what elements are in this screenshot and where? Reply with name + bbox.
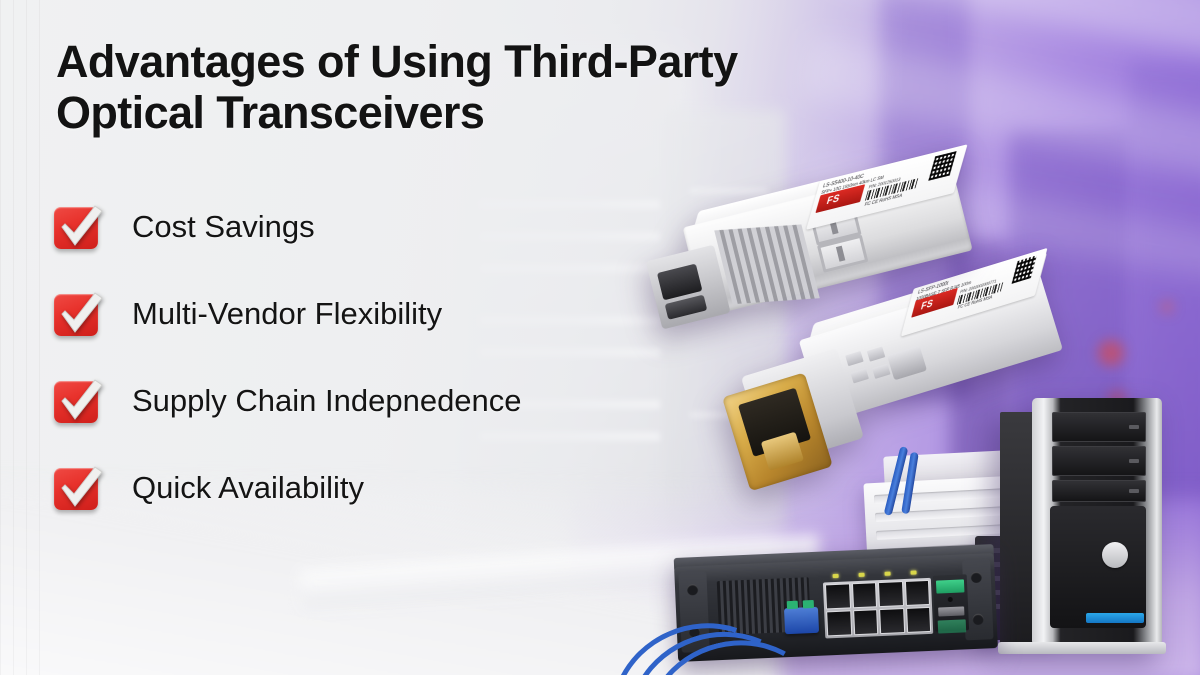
qr-code [928, 151, 956, 181]
red-checkbox-icon[interactable] [52, 464, 102, 512]
rj45-port [904, 580, 930, 606]
benefit-list: Cost Savings Multi-Vendor Flexibility Su… [52, 200, 522, 548]
reset-pinhole-icon [948, 597, 953, 602]
rj45-port [826, 610, 852, 636]
tower-lower-panel [1050, 506, 1146, 628]
optical-drive-bay [1052, 446, 1146, 476]
checkmark-glyph [52, 460, 104, 514]
page-title-line-2: Optical Transceivers [56, 87, 956, 138]
rack-ear-hole [687, 584, 698, 595]
rack-ear-hole [972, 614, 983, 625]
tower-front-panel [1032, 398, 1162, 646]
tower-base [998, 642, 1166, 654]
page-title-line-1: Advantages of Using Third-Party [56, 36, 956, 87]
banner-canvas: FS LS-SFP-1000t 1000BASE-T SFP RJ45 100m… [0, 0, 1200, 675]
sfp-module-green [936, 579, 965, 593]
list-item[interactable]: Multi-Vendor Flexibility [52, 287, 522, 341]
tower-blue-accent [1086, 613, 1144, 623]
latch-window [657, 264, 703, 301]
tower-side-panel [1000, 412, 1034, 644]
rj45-port [879, 608, 905, 634]
list-item-label: Supply Chain Indepnedence [132, 383, 522, 419]
list-item[interactable]: Supply Chain Indepnedence [52, 374, 522, 428]
switch-sfp-uplink-bay [933, 574, 969, 631]
list-item[interactable]: Quick Availability [52, 461, 522, 515]
status-led [833, 574, 839, 578]
rj45-port [853, 609, 879, 635]
list-item-label: Cost Savings [132, 209, 315, 245]
power-button-icon[interactable] [1102, 542, 1128, 568]
rj45-port [851, 582, 877, 608]
rj45-port [878, 581, 904, 607]
checkmark-glyph [52, 199, 104, 253]
status-led [910, 570, 916, 574]
switch-rj45-port-block [823, 578, 933, 639]
page-title: Advantages of Using Third-Party Optical … [56, 36, 956, 139]
checkmark-glyph [52, 286, 104, 340]
sfp-module-green [938, 619, 967, 633]
red-checkbox-icon[interactable] [52, 203, 102, 251]
list-item[interactable]: Cost Savings [52, 200, 522, 254]
rj45-port [825, 583, 851, 609]
qr-code [1012, 255, 1037, 284]
lc-fiber-connector [784, 607, 819, 634]
red-checkbox-icon[interactable] [52, 290, 102, 338]
usb-console-port [938, 606, 964, 616]
card-reader-bay [1052, 480, 1146, 502]
rack-ear-hole [971, 572, 982, 583]
red-checkbox-icon[interactable] [52, 377, 102, 425]
list-item-label: Quick Availability [132, 470, 364, 506]
list-item-label: Multi-Vendor Flexibility [132, 296, 442, 332]
rj45-port [906, 607, 932, 633]
status-led [884, 572, 890, 576]
background-texture-stripes [0, 0, 40, 675]
status-led [859, 573, 865, 577]
module-heatsink-fins [714, 224, 820, 304]
desktop-pc-tower [1032, 398, 1162, 646]
checkmark-glyph [52, 373, 104, 427]
